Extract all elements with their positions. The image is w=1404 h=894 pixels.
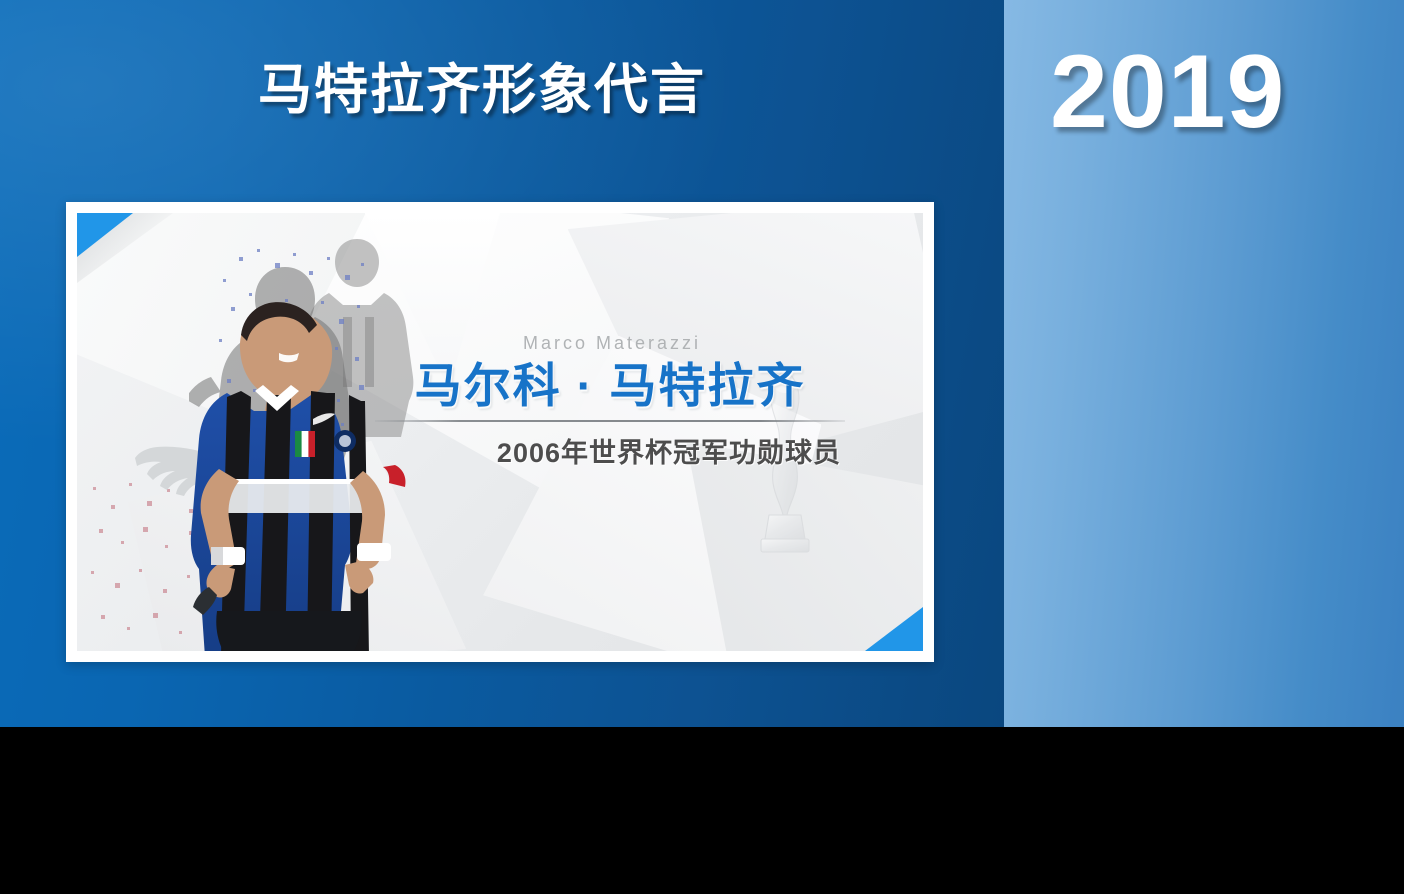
card-artwork: Marco Materazzi 马尔科 · 马特拉齐 2006年世界杯冠军功勋球… <box>77 213 923 651</box>
page-title: 马特拉齐形象代言 <box>258 63 706 117</box>
endorsement-image-card: Marco Materazzi 马尔科 · 马特拉齐 2006年世界杯冠军功勋球… <box>66 202 934 662</box>
slide-canvas: 马特拉齐形象代言 2019 <box>0 0 1404 894</box>
chinese-name-label: 马尔科 · 马特拉齐 <box>375 361 845 412</box>
presentation-slide: 马特拉齐形象代言 2019 <box>0 0 1404 727</box>
achievement-subtitle: 2006年世界杯冠军功勋球员 <box>375 431 845 470</box>
year-label: 2019 <box>1050 40 1285 144</box>
card-text-block: Marco Materazzi 马尔科 · 马特拉齐 2006年世界杯冠军功勋球… <box>375 333 845 470</box>
latin-name-label: Marco Materazzi <box>375 333 845 354</box>
divider <box>375 420 845 422</box>
triangle-accent-icon <box>865 607 923 651</box>
outside-slide-area <box>0 727 1404 894</box>
